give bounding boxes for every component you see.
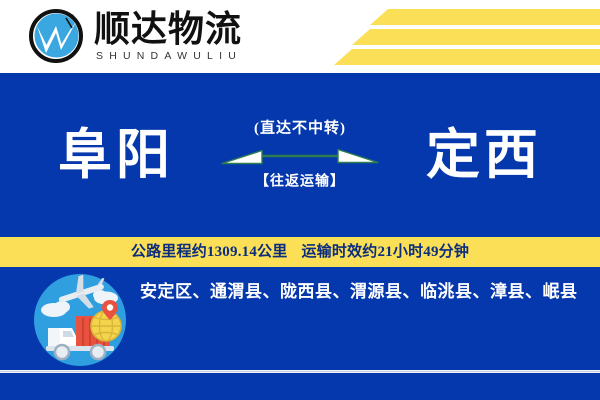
- roundtrip-note: 【往返运输】: [185, 174, 415, 192]
- coverage-section: 安定区、通渭县、陇西县、渭源县、临洮县、漳县、岷县: [0, 267, 600, 370]
- footer-bar: [0, 373, 600, 400]
- double-headed-arrow-icon: [185, 142, 415, 172]
- circle-w-swoosh-logo-icon: [26, 6, 86, 66]
- info-bar: 公路里程约1309.14公里 运输时效约21小时49分钟: [0, 237, 600, 267]
- truck-plane-globe-logistics-icon: [32, 272, 128, 368]
- brand-name-en: SHUNDAWULIU: [96, 50, 242, 63]
- route-section: 阜阳 (直达不中转) 【往返运输】 定西: [0, 73, 600, 237]
- logistics-route-banner: 顺达物流 SHUNDAWULIU 阜阳 (直达不中转) 【往返运输】 定西: [0, 0, 600, 400]
- direct-shipping-note: (直达不中转): [185, 119, 415, 139]
- coverage-areas-text: 安定区、通渭县、陇西县、渭源县、临洮县、漳县、岷县: [140, 279, 580, 305]
- brand-logo: 顺达物流 SHUNDAWULIU: [26, 6, 242, 66]
- route-middle: (直达不中转) 【往返运输】: [185, 119, 415, 192]
- decorative-stripes: [330, 0, 600, 73]
- distance-label: 公路里程约1309.14公里: [131, 243, 288, 261]
- duration-label: 运输时效约21小时49分钟: [301, 243, 469, 261]
- brand-name-cn: 顺达物流: [94, 10, 242, 48]
- origin-city: 阜阳: [58, 126, 174, 184]
- destination-city: 定西: [426, 126, 542, 184]
- brand-wordmark: 顺达物流 SHUNDAWULIU: [94, 10, 242, 63]
- header: 顺达物流 SHUNDAWULIU: [0, 0, 600, 73]
